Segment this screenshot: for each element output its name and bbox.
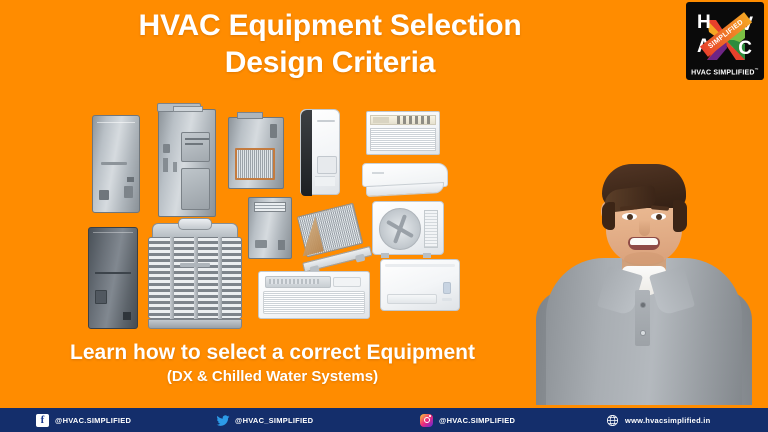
- equipment-ptac-unit: [258, 271, 370, 319]
- equipment-portable-dehumidifier: [300, 109, 340, 195]
- presenter-teeth: [630, 238, 658, 245]
- globe-icon[interactable]: [606, 414, 619, 427]
- equipment-outdoor-condensing-unit-heatpump: [372, 201, 444, 255]
- presenter-mouth: [628, 237, 660, 250]
- presenter-eye-left: [622, 213, 637, 220]
- presenter-pupil-right: [656, 214, 662, 220]
- footer-item-facebook[interactable]: f @HVAC.SIMPLIFIED: [0, 414, 192, 427]
- equipment-gas-furnace: [158, 109, 216, 217]
- social-footer-bar: f @HVAC.SIMPLIFIED @HVAC_SIMPLIFIED @HVA…: [0, 408, 768, 432]
- presenter-placket: [635, 290, 650, 346]
- equipment-a-coil: [290, 195, 373, 272]
- instagram-icon[interactable]: [420, 414, 433, 427]
- logo-trademark: ™: [755, 67, 759, 72]
- equipment-wall-mounted-split-indoor-unit: [362, 163, 448, 197]
- facebook-icon[interactable]: f: [36, 414, 49, 427]
- presenter-button-top: [640, 302, 646, 308]
- presenter-chin: [624, 252, 664, 266]
- footer-item-instagram[interactable]: @HVAC.SIMPLIFIED: [384, 414, 576, 427]
- presenter-button-bottom: [640, 330, 646, 336]
- equipment-dark-air-handler: [88, 227, 138, 329]
- logo-caption: HVAC SIMPLIFIED™: [686, 67, 764, 76]
- page-title: HVAC Equipment Selection Design Criteria: [0, 8, 660, 81]
- presenter-nose: [639, 220, 650, 236]
- subtitle-sub: (DX & Chilled Water Systems): [0, 367, 545, 387]
- twitter-icon[interactable]: [216, 414, 229, 427]
- presenter-eye-right: [651, 213, 666, 220]
- twitter-handle: @HVAC_SIMPLIFIED: [235, 416, 313, 425]
- website-url: www.hvacsimplified.in: [625, 416, 710, 425]
- presenter-hair-side-left: [602, 202, 615, 230]
- equipment-floor-console-unit: [380, 259, 460, 311]
- subtitle-main: Learn how to select a correct Equipment: [0, 340, 545, 365]
- equipment-evaporator-coil-cabinet: [228, 117, 284, 189]
- footer-item-website[interactable]: www.hvacsimplified.in: [576, 414, 768, 427]
- equipment-upflow-evaporator-coil: [248, 197, 292, 259]
- equipment-collage: [0, 95, 540, 345]
- equipment-window-air-conditioner: [366, 111, 440, 155]
- presenter-pupil-left: [627, 214, 633, 220]
- instagram-handle: @HVAC.SIMPLIFIED: [439, 416, 515, 425]
- equipment-outdoor-condensing-unit: [148, 223, 242, 329]
- presenter-figure: [518, 78, 768, 408]
- logo-caption-text: HVAC SIMPLIFIED: [691, 69, 755, 76]
- slide-canvas: HVAC Equipment Selection Design Criteria…: [0, 0, 768, 432]
- title-line-1: HVAC Equipment Selection: [0, 8, 660, 45]
- presenter-hair-side-right: [673, 200, 687, 232]
- logo-letter-h: H: [697, 13, 711, 32]
- title-line-2: Design Criteria: [0, 45, 660, 82]
- equipment-vertical-air-handler: [92, 115, 140, 213]
- facebook-handle: @HVAC.SIMPLIFIED: [55, 416, 131, 425]
- footer-item-twitter[interactable]: @HVAC_SIMPLIFIED: [192, 414, 384, 427]
- logo-letter-c: C: [738, 39, 752, 58]
- subtitle-block: Learn how to select a correct Equipment …: [0, 340, 545, 387]
- brand-logo: H V A C SIMPLIFIED HVAC SIMPLIFIED™: [686, 2, 764, 80]
